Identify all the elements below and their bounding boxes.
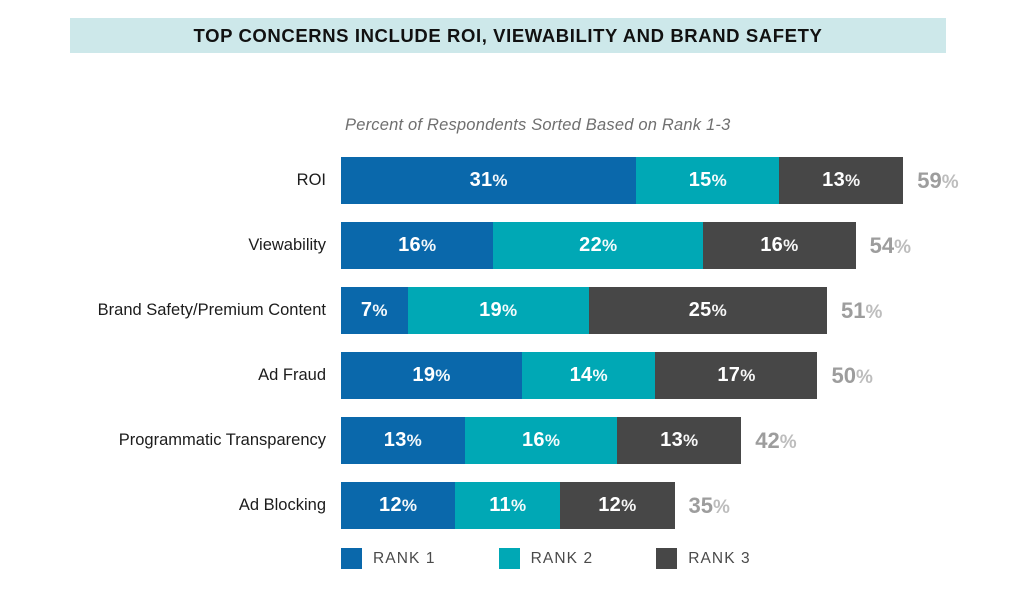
stacked-bar: 19%14%17% (341, 352, 817, 399)
percent-symbol: % (602, 236, 617, 256)
segment-value: 14 (570, 364, 593, 387)
row-total-value: 42 (755, 428, 779, 453)
category-label: Viewability (248, 222, 326, 269)
segment-value: 13 (384, 429, 407, 452)
percent-symbol: % (783, 236, 798, 256)
segment-value: 25 (689, 299, 712, 322)
percent-symbol: % (402, 496, 417, 516)
legend-label: RANK 1 (373, 550, 436, 568)
category-label: Ad Blocking (239, 482, 326, 529)
stacked-bar: 31%15%13% (341, 157, 903, 204)
bar-segment-rank-1: 7% (341, 287, 408, 334)
bar-segment-rank-2: 15% (636, 157, 779, 204)
percent-symbol: % (683, 431, 698, 451)
chart-row: Viewability16%22%16%54% (0, 222, 1023, 287)
chart-row: Ad Blocking12%11%12%35% (0, 482, 1023, 547)
percent-symbol: % (845, 171, 860, 191)
bar-segment-rank-1: 31% (341, 157, 636, 204)
row-total-label: 35% (689, 482, 730, 529)
bar-segment-rank-2: 19% (408, 287, 589, 334)
legend-item[interactable]: RANK 3 (656, 548, 751, 569)
chart-row: Brand Safety/Premium Content7%19%25%51% (0, 287, 1023, 352)
bar-segment-rank-2: 14% (522, 352, 655, 399)
chart-row: ROI31%15%13%59% (0, 157, 1023, 222)
row-total-label: 54% (870, 222, 911, 269)
segment-value: 17 (717, 364, 740, 387)
stacked-bar-chart: ROI31%15%13%59%Viewability16%22%16%54%Br… (0, 157, 1023, 547)
category-label: Ad Fraud (258, 352, 326, 399)
percent-symbol: % (492, 171, 507, 191)
segment-value: 12 (598, 494, 621, 517)
bar-segment-rank-1: 13% (341, 417, 465, 464)
segment-value: 13 (660, 429, 683, 452)
bar-segment-rank-2: 22% (493, 222, 703, 269)
segment-value: 31 (470, 169, 493, 192)
segment-value: 16 (522, 429, 545, 452)
row-total-value: 51 (841, 298, 865, 323)
bar-segment-rank-3: 16% (703, 222, 855, 269)
segment-value: 11 (489, 494, 511, 517)
percent-symbol: % (372, 301, 387, 321)
stacked-bar: 16%22%16% (341, 222, 856, 269)
bar-segment-rank-2: 16% (465, 417, 617, 464)
legend-item[interactable]: RANK 2 (499, 548, 594, 569)
page-title: TOP CONCERNS INCLUDE ROI, VIEWABILITY AN… (194, 25, 823, 47)
percent-symbol: % (856, 367, 873, 388)
percent-symbol: % (713, 497, 730, 518)
percent-symbol: % (511, 496, 526, 516)
chart-subtitle: Percent of Respondents Sorted Based on R… (345, 116, 730, 135)
row-total-label: 42% (755, 417, 796, 464)
row-total-value: 50 (832, 363, 856, 388)
percent-symbol: % (740, 366, 755, 386)
legend-label: RANK 2 (531, 550, 594, 568)
percent-symbol: % (435, 366, 450, 386)
legend-label: RANK 3 (688, 550, 751, 568)
stacked-bar: 7%19%25% (341, 287, 827, 334)
category-label: Brand Safety/Premium Content (98, 287, 326, 334)
legend-swatch-icon (656, 548, 677, 569)
row-total-value: 54 (870, 233, 894, 258)
percent-symbol: % (712, 301, 727, 321)
percent-symbol: % (502, 301, 517, 321)
chart-row: Programmatic Transparency13%16%13%42% (0, 417, 1023, 482)
row-total-value: 35 (689, 493, 713, 518)
chart-row: Ad Fraud19%14%17%50% (0, 352, 1023, 417)
segment-value: 7 (361, 299, 372, 322)
segment-value: 19 (479, 299, 502, 322)
stacked-bar: 12%11%12% (341, 482, 675, 529)
segment-value: 16 (398, 234, 421, 257)
segment-value: 22 (579, 234, 602, 257)
legend-swatch-icon (499, 548, 520, 569)
bar-segment-rank-1: 19% (341, 352, 522, 399)
header-band: TOP CONCERNS INCLUDE ROI, VIEWABILITY AN… (70, 18, 946, 53)
bar-segment-rank-3: 13% (779, 157, 903, 204)
row-total-value: 59 (917, 168, 941, 193)
percent-symbol: % (866, 302, 883, 323)
segment-value: 12 (379, 494, 402, 517)
bar-segment-rank-3: 12% (560, 482, 674, 529)
bar-segment-rank-1: 12% (341, 482, 455, 529)
bar-segment-rank-2: 11% (455, 482, 560, 529)
percent-symbol: % (894, 237, 911, 258)
percent-symbol: % (712, 171, 727, 191)
percent-symbol: % (942, 172, 959, 193)
row-total-label: 59% (917, 157, 958, 204)
percent-symbol: % (780, 432, 797, 453)
percent-symbol: % (421, 236, 436, 256)
legend-item[interactable]: RANK 1 (341, 548, 436, 569)
segment-value: 15 (689, 169, 712, 192)
percent-symbol: % (545, 431, 560, 451)
percent-symbol: % (592, 366, 607, 386)
row-total-label: 50% (832, 352, 873, 399)
percent-symbol: % (407, 431, 422, 451)
bar-segment-rank-3: 17% (655, 352, 817, 399)
chart-legend: RANK 1RANK 2RANK 3 (341, 548, 814, 569)
row-total-label: 51% (841, 287, 882, 334)
segment-value: 16 (760, 234, 783, 257)
bar-segment-rank-1: 16% (341, 222, 493, 269)
segment-value: 19 (412, 364, 435, 387)
category-label: Programmatic Transparency (119, 417, 326, 464)
segment-value: 13 (822, 169, 845, 192)
category-label: ROI (297, 157, 326, 204)
stacked-bar: 13%16%13% (341, 417, 741, 464)
legend-swatch-icon (341, 548, 362, 569)
percent-symbol: % (621, 496, 636, 516)
bar-segment-rank-3: 13% (617, 417, 741, 464)
bar-segment-rank-3: 25% (589, 287, 827, 334)
